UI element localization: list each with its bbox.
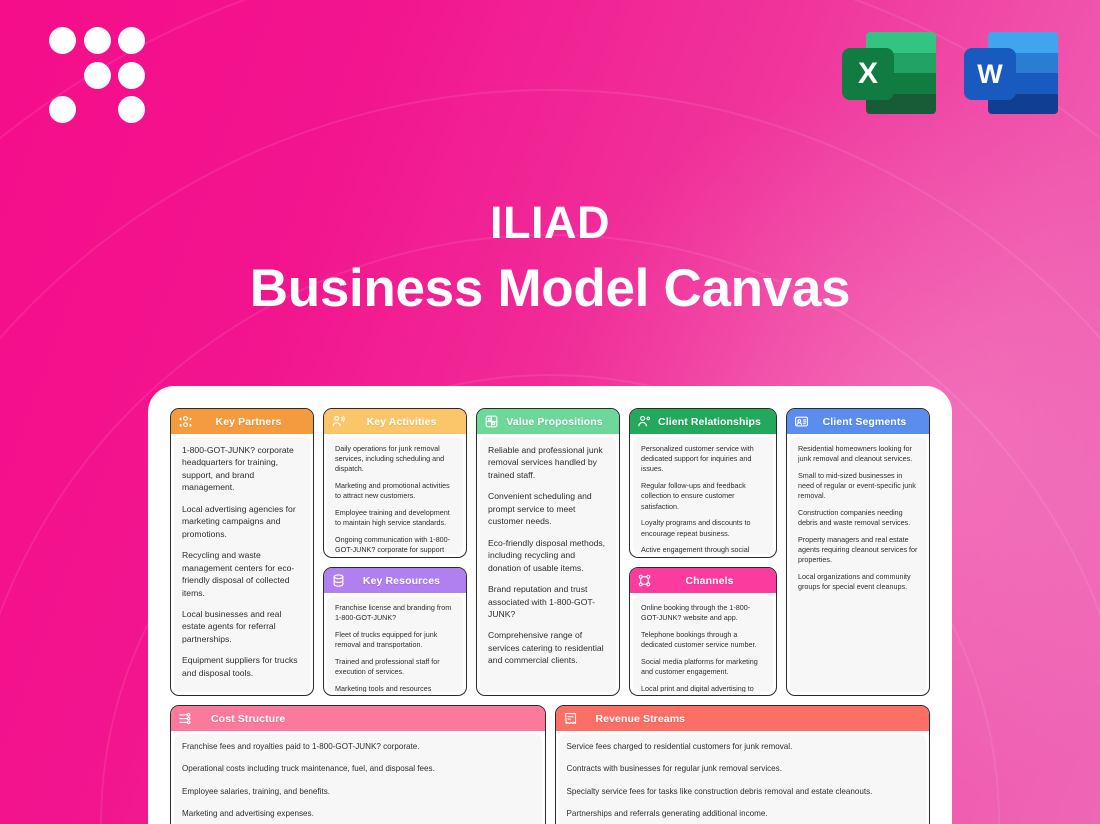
card-header-channels: Channels xyxy=(630,568,776,593)
office-icons-group: X W xyxy=(842,26,1058,120)
card-item: Specialty service fees for tasks like co… xyxy=(567,786,919,797)
excel-icon[interactable]: X xyxy=(842,26,936,120)
card-item: Local organizations and community groups… xyxy=(798,572,918,592)
card-body-cost-structure: Franchise fees and royalties paid to 1-8… xyxy=(174,734,542,824)
card-item: Active engagement through social media a… xyxy=(641,545,765,554)
card-item: Employee salaries, training, and benefit… xyxy=(182,786,534,797)
card-body-value-propositions: Reliable and professional junk removal s… xyxy=(480,437,616,692)
card-item: Franchise license and branding from 1-80… xyxy=(335,603,455,623)
card-item: Local print and digital advertising to r… xyxy=(641,684,765,692)
card-item: Marketing tools and resources provided b… xyxy=(335,684,455,692)
card-item: Employee training and development to mai… xyxy=(335,508,455,528)
card-title: Value Propositions xyxy=(505,416,612,428)
card-item: Residential homeowners looking for junk … xyxy=(798,444,918,464)
card-item: Eco-friendly disposal methods, including… xyxy=(488,537,608,574)
receipt-icon xyxy=(563,711,578,726)
card-item: Online booking through the 1-800-GOT-JUN… xyxy=(641,603,765,623)
card-item: Daily operations for junk removal servic… xyxy=(335,444,455,475)
card-header-client-relationships: Client Relationships xyxy=(630,409,776,434)
card-title: Channels xyxy=(658,575,769,587)
excel-icon-letter: X xyxy=(842,48,894,100)
card-item: Local businesses and real estate agents … xyxy=(182,608,302,645)
card-client-segments[interactable]: Client Segments Residential homeowners l… xyxy=(786,408,930,696)
business-model-canvas-panel: Key Partners 1-800-GOT-JUNK? corporate h… xyxy=(148,386,952,824)
logo-dot xyxy=(49,27,76,54)
user-check-icon xyxy=(637,414,652,429)
card-cost-structure[interactable]: Cost Structure Franchise fees and royalt… xyxy=(170,705,546,824)
card-body-revenue-streams: Service fees charged to residential cust… xyxy=(559,734,927,824)
card-body-key-activities: Daily operations for junk removal servic… xyxy=(327,437,463,554)
brand-name: ILIAD xyxy=(0,198,1100,248)
database-icon xyxy=(331,573,346,588)
card-item: Contracts with businesses for regular ju… xyxy=(567,763,919,774)
card-key-resources[interactable]: Key Resources Franchise license and bran… xyxy=(323,567,467,696)
page-title: ILIAD Business Model Canvas xyxy=(0,198,1100,322)
id-card-icon xyxy=(794,414,809,429)
card-item: Small to mid-sized businesses in need of… xyxy=(798,471,918,502)
card-item: Service fees charged to residential cust… xyxy=(567,741,919,752)
partners-icon xyxy=(178,414,193,429)
card-item: Equipment suppliers for trucks and dispo… xyxy=(182,654,302,679)
word-icon[interactable]: W xyxy=(964,26,1058,120)
card-value-propositions[interactable]: Value Propositions Reliable and professi… xyxy=(476,408,620,696)
card-title: Cost Structure xyxy=(211,713,285,725)
card-item: Reliable and professional junk removal s… xyxy=(488,444,608,481)
card-item: Brand reputation and trust associated wi… xyxy=(488,583,608,620)
card-title: Client Segments xyxy=(815,416,922,428)
card-item: Construction companies needing debris an… xyxy=(798,508,918,528)
card-item: Regular follow-ups and feedback collecti… xyxy=(641,481,765,512)
logo-dot xyxy=(84,62,111,89)
column-key-activities: Key Activities Daily operations for junk… xyxy=(323,408,467,696)
card-revenue-streams[interactable]: Revenue Streams Service fees charged to … xyxy=(555,705,931,824)
card-item: Partnerships and referrals generating ad… xyxy=(567,808,919,819)
column-value-propositions: Value Propositions Reliable and professi… xyxy=(476,408,620,696)
card-channels[interactable]: Channels Online booking through the 1-80… xyxy=(629,567,777,696)
activities-icon xyxy=(331,414,346,429)
card-item: Operational costs including truck mainte… xyxy=(182,763,534,774)
canvas-top-grid: Key Partners 1-800-GOT-JUNK? corporate h… xyxy=(170,408,930,696)
card-header-value-propositions: Value Propositions xyxy=(477,409,619,434)
gift-icon xyxy=(484,414,499,429)
card-body-key-resources: Franchise license and branding from 1-80… xyxy=(327,596,463,692)
card-header-cost-structure: Cost Structure xyxy=(171,706,545,731)
card-item: Comprehensive range of services catering… xyxy=(488,629,608,666)
card-item: Social media platforms for marketing and… xyxy=(641,657,765,677)
iliad-logo xyxy=(49,27,145,123)
card-header-key-resources: Key Resources xyxy=(324,568,466,593)
logo-dot xyxy=(49,96,76,123)
card-header-revenue-streams: Revenue Streams xyxy=(556,706,930,731)
logo-dot xyxy=(118,96,145,123)
word-icon-letter: W xyxy=(964,48,1016,100)
column-key-partners: Key Partners 1-800-GOT-JUNK? corporate h… xyxy=(170,408,314,696)
logo-dot xyxy=(118,27,145,54)
network-icon xyxy=(637,573,652,588)
sliders-icon xyxy=(178,711,193,726)
card-item: Franchise fees and royalties paid to 1-8… xyxy=(182,741,534,752)
card-item: Recycling and waste management centers f… xyxy=(182,549,302,599)
canvas-bottom-grid: Cost Structure Franchise fees and royalt… xyxy=(170,705,930,824)
card-header-key-activities: Key Activities xyxy=(324,409,466,434)
logo-dot xyxy=(84,27,111,54)
card-body-channels: Online booking through the 1-800-GOT-JUN… xyxy=(633,596,773,692)
column-client-relationships: Client Relationships Personalized custom… xyxy=(629,408,777,696)
card-header-client-segments: Client Segments xyxy=(787,409,929,434)
card-item: Personalized customer service with dedic… xyxy=(641,444,765,475)
card-title: Revenue Streams xyxy=(596,713,686,725)
card-title: Key Resources xyxy=(352,575,459,587)
card-title: Key Activities xyxy=(352,416,459,428)
title-main: Business Model Canvas xyxy=(0,256,1100,322)
card-body-key-partners: 1-800-GOT-JUNK? corporate headquarters f… xyxy=(174,437,310,692)
card-item: 1-800-GOT-JUNK? corporate headquarters f… xyxy=(182,444,302,494)
card-item: Trained and professional staff for execu… xyxy=(335,657,455,677)
column-client-segments: Client Segments Residential homeowners l… xyxy=(786,408,930,696)
card-header-key-partners: Key Partners xyxy=(171,409,313,434)
card-item: Telephone bookings through a dedicated c… xyxy=(641,630,765,650)
card-body-client-relationships: Personalized customer service with dedic… xyxy=(633,437,773,554)
card-body-client-segments: Residential homeowners looking for junk … xyxy=(790,437,926,692)
card-key-activities[interactable]: Key Activities Daily operations for junk… xyxy=(323,408,467,558)
card-item: Local advertising agencies for marketing… xyxy=(182,503,302,540)
card-title: Client Relationships xyxy=(658,416,769,428)
card-item: Loyalty programs and discounts to encour… xyxy=(641,518,765,538)
card-item: Marketing and promotional activities to … xyxy=(335,481,455,501)
card-key-partners[interactable]: Key Partners 1-800-GOT-JUNK? corporate h… xyxy=(170,408,314,696)
card-item: Marketing and advertising expenses. xyxy=(182,808,534,819)
card-item: Fleet of trucks equipped for junk remova… xyxy=(335,630,455,650)
card-client-relationships[interactable]: Client Relationships Personalized custom… xyxy=(629,408,777,558)
card-item: Property managers and real estate agents… xyxy=(798,535,918,566)
card-item: Convenient scheduling and prompt service… xyxy=(488,490,608,527)
logo-dot xyxy=(118,62,145,89)
card-item: Ongoing communication with 1-800-GOT-JUN… xyxy=(335,535,455,554)
card-title: Key Partners xyxy=(199,416,306,428)
